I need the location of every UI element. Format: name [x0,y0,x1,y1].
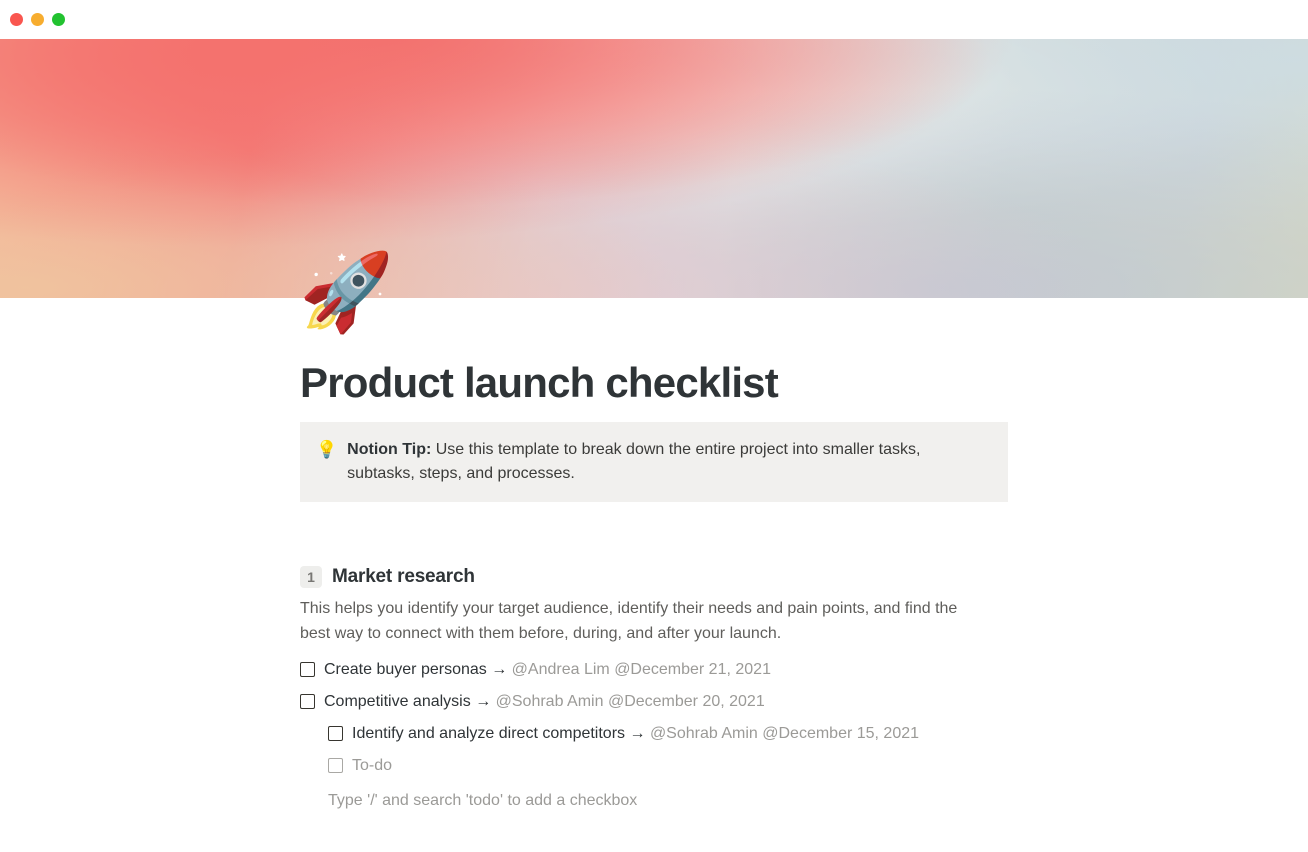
page-body: 🚀 Product launch checklist 💡 Notion Tip:… [0,39,1308,852]
slash-command-hint: Type '/' and search 'todo' to add a chec… [328,789,1008,813]
section-heading: 1 Market research [300,566,1008,588]
todo-label[interactable]: Create buyer personas → @Andrea Lim @Dec… [324,658,771,682]
todo-title: Competitive analysis [324,693,471,710]
list-item[interactable]: Create buyer personas → @Andrea Lim @Dec… [300,654,1008,686]
date-mention[interactable]: @December 20, 2021 [608,693,765,710]
todo-checkbox[interactable] [328,726,343,741]
callout-block[interactable]: 💡 Notion Tip: Use this template to break… [300,422,1008,502]
todo-label[interactable]: Identify and analyze direct competitors … [352,722,919,746]
date-mention[interactable]: @December 15, 2021 [762,725,919,742]
maximize-window-button[interactable] [52,13,65,26]
todo-label[interactable]: Competitive analysis → @Sohrab Amin @Dec… [324,690,765,714]
todo-title: Identify and analyze direct competitors [352,725,625,742]
todo-placeholder-label[interactable]: To-do [352,754,392,778]
window-titlebar [0,0,1308,39]
rocket-emoji[interactable]: 🚀 [299,255,394,331]
section-description[interactable]: This helps you identify your target audi… [300,596,990,646]
traffic-light-group [10,13,65,26]
assignee-mention[interactable]: @Sohrab Amin [650,725,758,742]
page-content: Product launch checklist 💡 Notion Tip: U… [300,359,1008,813]
assignee-mention[interactable]: @Sohrab Amin [496,693,604,710]
date-mention[interactable]: @December 21, 2021 [614,661,771,678]
list-item[interactable]: To-do [328,750,1008,782]
todo-checkbox[interactable] [300,694,315,709]
section-number-badge: 1 [300,566,322,588]
assignee-mention[interactable]: @Andrea Lim [512,661,610,678]
callout-text: Notion Tip: Use this template to break d… [347,438,992,486]
section-title[interactable]: Market research [332,566,475,588]
arrow-icon: → [629,725,645,742]
todo-checkbox[interactable] [328,758,343,773]
page-title[interactable]: Product launch checklist [300,359,1008,406]
todo-title: Create buyer personas [324,661,487,678]
list-item[interactable]: Identify and analyze direct competitors … [328,718,1008,750]
arrow-icon: → [475,693,491,710]
callout-label: Notion Tip: [347,441,431,458]
list-item[interactable]: Competitive analysis → @Sohrab Amin @Dec… [300,686,1008,718]
arrow-icon: → [491,661,507,678]
todo-list: Create buyer personas → @Andrea Lim @Dec… [300,654,1008,782]
lightbulb-emoji: 💡 [316,438,337,462]
minimize-window-button[interactable] [31,13,44,26]
app-window: 🚀 Product launch checklist 💡 Notion Tip:… [0,0,1308,852]
todo-checkbox[interactable] [300,662,315,677]
close-window-button[interactable] [10,13,23,26]
callout-body: Use this template to break down the enti… [347,441,920,482]
